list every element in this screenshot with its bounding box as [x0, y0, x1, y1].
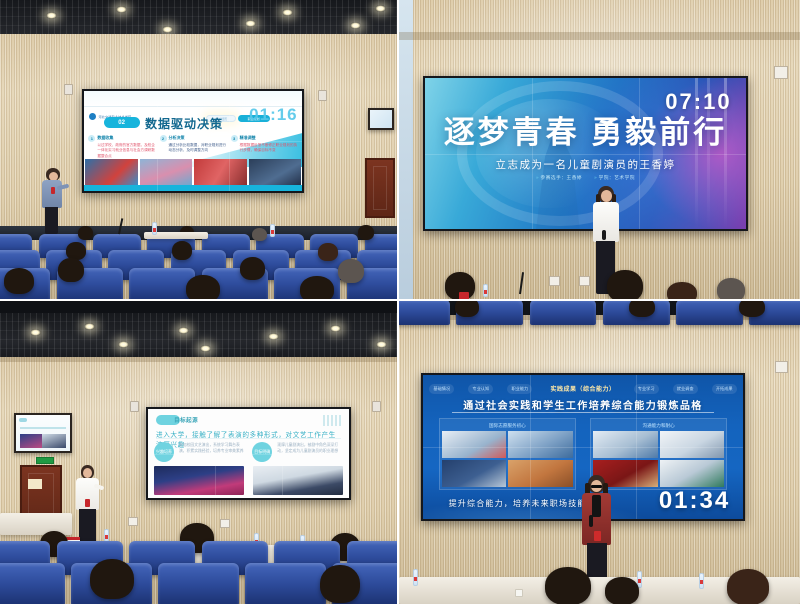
block-body: 参加校园文艺演出，系统学习舞台表演，积累实践经验，培养专业审美素养: [179, 442, 245, 455]
speaker-bl: [74, 465, 102, 543]
nav-tab-active[interactable]: 实践成果（综合能力）: [546, 382, 619, 395]
slide-column: 1 数据收集 以过学校、政府的官方数据，及校企一体化实习就业信息与社会方调研数据…: [88, 135, 155, 159]
nav-tab[interactable]: 就业调查: [673, 384, 698, 394]
wall-speaker-icon: [130, 401, 139, 412]
slide-title-br: 通过社会实践和学生工作培养综合能力锻炼品格: [423, 397, 743, 412]
side-monitor-tl: [368, 108, 394, 130]
slide-data-driven-decision: 河北交通职业技术学院 成长经历 职业规划 01:16 02 数据驱动决策 1 数…: [84, 91, 302, 191]
slide-card: 国际志愿服务初心: [439, 418, 576, 490]
wall-switch-panel: [775, 361, 788, 373]
block-body: 观摩儿童剧演出，被剧中角色深深打动，坚定成为儿童剧演员的职业理想: [277, 442, 343, 455]
slide-hero-title: 07:10 逐梦青春 勇毅前行 立志成为一名儿童剧演员的王香婷 »参赛选手：王香…: [425, 78, 746, 229]
wall-speaker-icon: [372, 401, 381, 412]
nav-tab[interactable]: 基础情况: [429, 384, 454, 394]
water-bottle: [152, 222, 157, 235]
side-monitor-bl[interactable]: [14, 413, 72, 453]
slide-subtitle: 立志成为一名儿童剧演员的王香婷: [425, 157, 746, 172]
chevron-right-icon: »: [594, 175, 596, 180]
lanyard-badge: [459, 292, 469, 301]
bullet-icon: 3: [231, 135, 238, 142]
column-heading: 数据收集: [97, 135, 155, 141]
slide-column: 2 分析决策 通过分析比较数据，对职业规划进行动态分析，及时调整方向: [160, 135, 227, 159]
contestant-badge: [51, 187, 55, 194]
led-video-wall-bl[interactable]: 目标起源 进入大学，接触了解了表演的多种形式，对文艺工作产生浓厚兴趣 兴趣培养 …: [146, 407, 351, 500]
card-caption: 沟通能力和耐心: [593, 421, 724, 431]
wall-speaker-icon: [64, 84, 73, 95]
block-badge: 目标明确: [252, 442, 272, 462]
auditorium-room-bl: 目标起源 进入大学，接触了解了表演的多种形式，对文艺工作产生浓厚兴趣 兴趣培养 …: [0, 301, 397, 604]
slide-chip-heading: 目标起源: [174, 416, 198, 424]
panel-top-left[interactable]: 河北交通职业技术学院 成长经历 职业规划 01:16 02 数据驱动决策 1 数…: [0, 0, 399, 301]
contestant-badge: [85, 499, 90, 507]
wall-switch-panel: [774, 66, 788, 79]
slide-meta-row: »参赛选手：王香婷 »学院：艺术学院: [425, 175, 746, 181]
slide-column: 3 精准调整 根据数据反馈不断修正职业规划的执行步骤，确保目标不变: [231, 135, 298, 159]
auditorium-room-tl: 河北交通职业技术学院 成长经历 职业规划 01:16 02 数据驱动决策 1 数…: [0, 0, 397, 299]
left-wall-edge: [399, 0, 413, 299]
slide-block: 目标明确 观摩儿童剧演出，被剧中角色深深打动，坚定成为儿童剧演员的职业理想: [252, 442, 343, 462]
handheld-microphone: [589, 515, 593, 527]
wall-outlet: [128, 517, 138, 526]
slide-columns: 1 数据收集 以过学校、政府的官方数据，及校企一体化实习就业信息与社会方调研数据…: [88, 135, 297, 159]
bullet-icon: 2: [160, 135, 167, 142]
water-bottle: [413, 569, 418, 586]
meta-label: 学院：艺术学院: [599, 175, 635, 180]
column-body: 以过学校、政府的官方数据，及校企一体化实习就业信息与社会方调研数据整合点: [97, 143, 155, 159]
meta-item: »参赛选手：王香婷: [536, 175, 582, 181]
block-badge: 兴趣培养: [154, 442, 174, 462]
countdown-timer-tr: 07:10: [665, 89, 731, 115]
countdown-timer-tl: 01:16: [249, 105, 297, 125]
slide-main-title: 逐梦青春 勇毅前行: [435, 117, 737, 148]
nav-tab[interactable]: 开拓成果: [712, 384, 737, 394]
slide-blocks: 兴趣培养 参加校园文艺演出，系统学习舞台表演，积累实践经验，培养专业审美素养 目…: [154, 442, 343, 462]
nav-tab[interactable]: 专业学习: [634, 384, 659, 394]
section-number: 02: [104, 117, 140, 128]
meta-item: »学院：艺术学院: [594, 175, 635, 181]
meta-label: 参赛选手：王香婷: [541, 175, 583, 180]
panel-top-right[interactable]: 07:10 逐梦青春 勇毅前行 立志成为一名儿童剧演员的王香婷 »参赛选手：王香…: [399, 0, 800, 301]
led-video-wall-tr[interactable]: 07:10 逐梦青春 勇毅前行 立志成为一名儿童剧演员的王香婷 »参赛选手：王香…: [423, 76, 748, 231]
exit-sign: [36, 457, 54, 464]
wall-speaker-icon: [318, 90, 327, 101]
speaker-tl: [40, 168, 66, 234]
decorative-bars-icon: [323, 415, 341, 426]
column-heading: 分析决策: [169, 135, 227, 141]
water-bottle: [699, 573, 704, 589]
wall-outlet: [220, 519, 230, 528]
auditorium-room-tr: 07:10 逐梦青春 勇毅前行 立志成为一名儿童剧演员的王香婷 »参赛选手：王香…: [399, 0, 800, 299]
panel-bottom-right[interactable]: 基础情况 专业认知 职业能力 实践成果（综合能力） 专业学习 就业调查 开拓成果…: [399, 301, 800, 604]
slide-title-tl: 数据驱动决策: [145, 115, 223, 132]
photo-collage: 河北交通职业技术学院 成长经历 职业规划 01:16 02 数据驱动决策 1 数…: [0, 0, 800, 604]
countdown-timer-br: 01:34: [659, 487, 730, 515]
panel-bottom-left[interactable]: 目标起源 进入大学，接触了解了表演的多种形式，对文艺工作产生浓厚兴趣 兴趣培养 …: [0, 301, 399, 604]
slide-nav-tabs[interactable]: 基础情况 专业认知 职业能力 实践成果（综合能力） 专业学习 就业调查 开拓成果: [429, 382, 736, 395]
wall-outlet: [549, 276, 560, 286]
water-bottle: [270, 224, 275, 237]
nav-tab[interactable]: 专业认知: [468, 384, 493, 394]
handheld-microphone: [602, 230, 606, 240]
glasses-icon: [591, 485, 602, 488]
slide-block: 兴趣培养 参加校园文艺演出，系统学习舞台表演，积累实践经验，培养专业审美素养: [154, 442, 245, 462]
card-caption: 国际志愿服务初心: [442, 421, 573, 431]
paper-cup: [515, 589, 523, 597]
slide-photos: [154, 466, 343, 495]
card-tile-grid: [442, 431, 573, 487]
chevron-right-icon: »: [536, 175, 538, 180]
side-door: [365, 158, 395, 218]
logo-mark-icon: [89, 113, 96, 120]
slide-goal-origin: 目标起源 进入大学，接触了解了表演的多种形式，对文艺工作产生浓厚兴趣 兴趣培养 …: [148, 409, 349, 498]
column-body: 通过分析比较数据，对职业规划进行动态分析，及时调整方向: [169, 143, 227, 154]
nav-tab[interactable]: 职业能力: [507, 384, 532, 394]
contestant-badge: [594, 531, 601, 541]
slide-footer-text: 提升综合能力，培养未来职场技能: [449, 498, 587, 509]
water-bottle: [483, 284, 488, 297]
column-heading: 精准调整: [240, 135, 298, 141]
led-video-wall-tl[interactable]: 河北交通职业技术学院 成长经历 职业规划 01:16 02 数据驱动决策 1 数…: [82, 89, 304, 193]
column-body: 根据数据反馈不断修正职业规划的执行步骤，确保目标不变: [240, 143, 298, 154]
slide-photo-strip: [84, 159, 302, 185]
auditorium-room-br: 基础情况 专业认知 职业能力 实践成果（综合能力） 专业学习 就业调查 开拓成果…: [399, 301, 800, 604]
bullet-icon: 1: [88, 135, 95, 142]
